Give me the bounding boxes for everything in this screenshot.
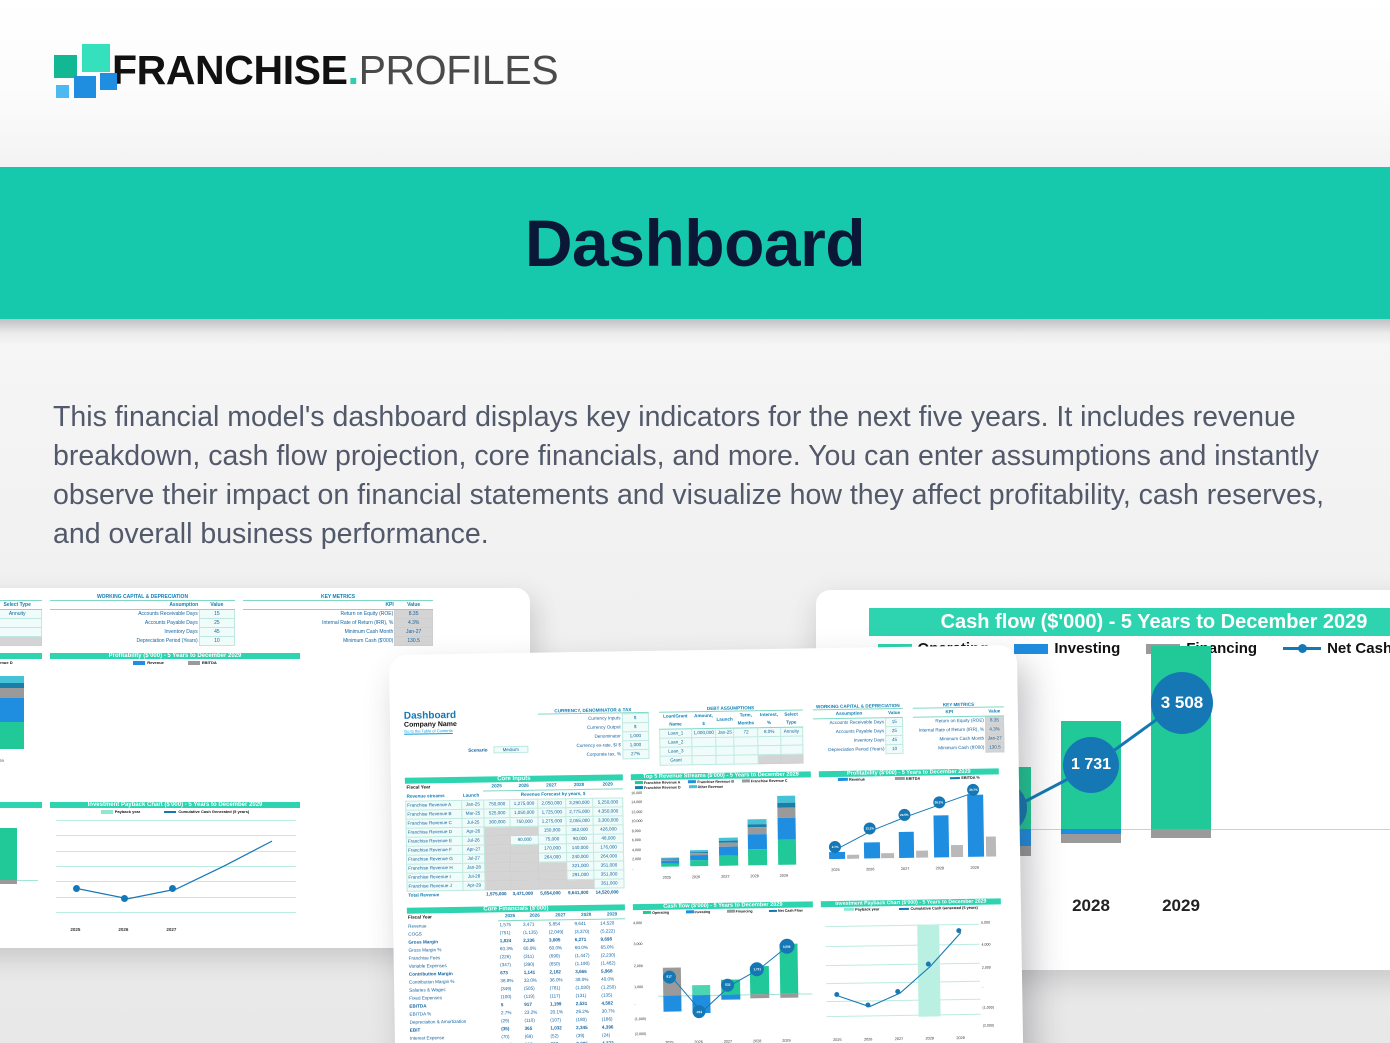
- net-cash-flow-label-2029: 3 508: [1151, 672, 1213, 734]
- wc-header-left: WORKING CAPITAL & DEPRECIATION: [50, 594, 235, 601]
- page-description: This financial model's dashboard display…: [53, 398, 1343, 554]
- kpi-table-left: KPIValue Return on Equity (ROE)8.35 Inte…: [243, 601, 433, 646]
- brand-name-thin: PROFILES: [359, 47, 559, 93]
- brand-logo: FRANCHISE.PROFILES: [50, 42, 558, 98]
- top5-plot-left: 16,000 14,000 12,000 10,000 8,000 6,000 …: [0, 677, 42, 759]
- screenshot-showcase: & TAX $ $ 1,000 1,000 15% DEBT ASSUMPTIO…: [0, 560, 1390, 1043]
- logo-squares-icon: [50, 42, 112, 98]
- toc-link[interactable]: Go to the Table of Contents: [404, 727, 528, 734]
- x-axis-label-2028: 2028: [1061, 896, 1121, 916]
- wc-table: AssumptionValue Accounts Receivable Days…: [813, 709, 904, 755]
- profitability-plot: 2.7% 13.2% 20.5% 26.2% 30.7% 2025 2026 2…: [819, 780, 1000, 869]
- brand-name-bold: FRANCHISE: [112, 47, 348, 93]
- brand-wordmark: FRANCHISE.PROFILES: [112, 50, 558, 91]
- debt-table: Loan/Grant Name Amount, $ Launch Term, M…: [659, 710, 804, 765]
- scenario-label: Scenario: [468, 747, 487, 752]
- cashflow-plot-left: 4,000 3,000 2,000 1,000 - (1,000) (2,000…: [0, 816, 42, 928]
- payback-plot: 6,0004,000 2,000- (1,000)(2,000): [821, 910, 1003, 1039]
- page-title-banner: Dashboard: [0, 167, 1390, 319]
- table-row: Depreciation Period (Years)10: [813, 744, 903, 754]
- table-row: Grant: [660, 754, 803, 765]
- core-inputs-table: Fiscal Year 2025 2026 2027 2028 2029 Rev…: [405, 780, 625, 899]
- payback-plot-left: 20252026 2027: [50, 816, 300, 928]
- kpi-header-left: KEY METRICS: [243, 594, 433, 601]
- table-row: Minimum Cash ($'000)130.5: [914, 743, 1004, 753]
- wc-table-left: AssumptionValue Accounts Receivable Days…: [50, 601, 235, 646]
- legend-net-cash-flow: Net Cash Flow: [1283, 640, 1390, 657]
- net-cash-flow-line-front: [657, 913, 813, 1029]
- legend-investing: Investing: [1014, 640, 1120, 657]
- net-cash-flow-label-2028: 1 731: [1063, 737, 1119, 793]
- net-cash-flow-line-left: [0, 816, 38, 916]
- payback-line-left: [56, 820, 296, 916]
- page-title: Dashboard: [525, 205, 865, 281]
- scenario-select[interactable]: Medium: [494, 746, 528, 754]
- debt-table-left: Loan/Grant NameAmount, $ LaunchTerm, Mon…: [0, 601, 42, 646]
- core-financials-table: Fiscal Year 2025 2026 2027 2028 2029 Rev…: [407, 910, 628, 1043]
- cashflow-plot-front: 4,0003,000 2,0001,000 -(1,000) (2,000): [633, 913, 815, 1042]
- top5-plot: 16,00014,000 12,00010,000 8,0006,000 4,0…: [631, 788, 812, 877]
- screenshot-card-front: Dashboard Company Name Go to the Table o…: [389, 645, 1031, 1043]
- cashflow-chart-title: Cash flow ($'000) - 5 Years to December …: [869, 608, 1390, 636]
- currency-table: Currency Inputs$ Currency Output$ Denomi…: [537, 713, 649, 761]
- kpi-table: KPIValue Return on Equity (ROE)8.35 Inte…: [913, 707, 1004, 753]
- banner-shadow: [0, 319, 1390, 345]
- brand-name-dot: .: [348, 47, 359, 93]
- x-axis-label-2029: 2029: [1151, 896, 1211, 916]
- logo-bar: FRANCHISE.PROFILES: [0, 0, 1390, 167]
- debt-header-left: DEBT ASSUMPTIONS: [0, 594, 42, 601]
